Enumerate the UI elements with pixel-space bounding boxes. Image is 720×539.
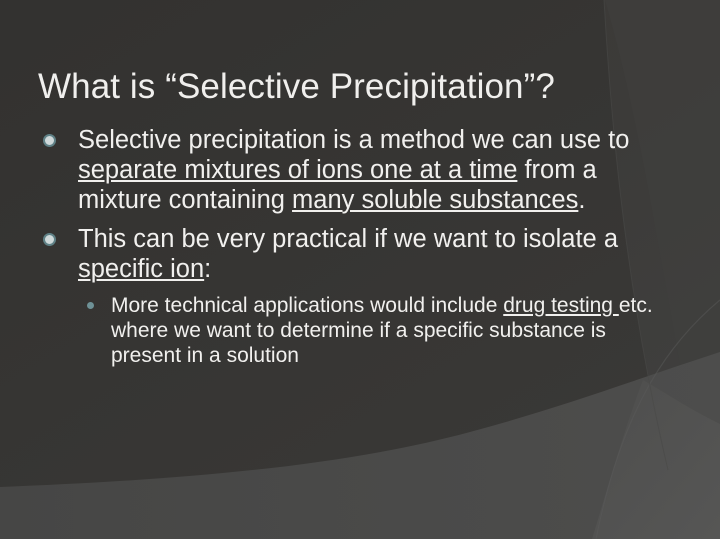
text-run-underlined: specific ion	[78, 255, 204, 283]
text-run: This can be very practical if we want to…	[78, 225, 618, 253]
sub-bullet-text-1: More technical applications would includ…	[111, 294, 653, 367]
bullet-text-1: Selective precipitation is a method we c…	[78, 126, 629, 214]
text-run: More technical applications would includ…	[111, 294, 503, 317]
text-run-underlined: many soluble substances	[292, 186, 578, 214]
dot-bullet-icon	[87, 302, 94, 309]
text-run-underlined: drug testing	[503, 294, 619, 317]
text-run: .	[578, 186, 585, 214]
sub-bullet-list: More technical applications would includ…	[78, 293, 660, 369]
text-run: Selective precipitation is a method we c…	[78, 126, 629, 154]
bullet-item-2: This can be very practical if we want to…	[40, 225, 660, 368]
bullet-text-2: This can be very practical if we want to…	[78, 225, 618, 283]
presentation-slide: What is “Selective Precipitation”? Selec…	[0, 0, 720, 539]
ring-bullet-icon	[43, 134, 56, 147]
sub-bullet-item-1: More technical applications would includ…	[78, 293, 660, 369]
text-run: :	[204, 255, 211, 283]
bullet-item-1: Selective precipitation is a method we c…	[40, 126, 660, 216]
ring-bullet-icon	[43, 233, 56, 246]
text-run-underlined: separate mixtures of ions one at a time	[78, 156, 517, 184]
slide-title: What is “Selective Precipitation”?	[38, 67, 678, 106]
slide-body: Selective precipitation is a method we c…	[40, 126, 660, 368]
slide-content: What is “Selective Precipitation”? Selec…	[0, 0, 720, 539]
